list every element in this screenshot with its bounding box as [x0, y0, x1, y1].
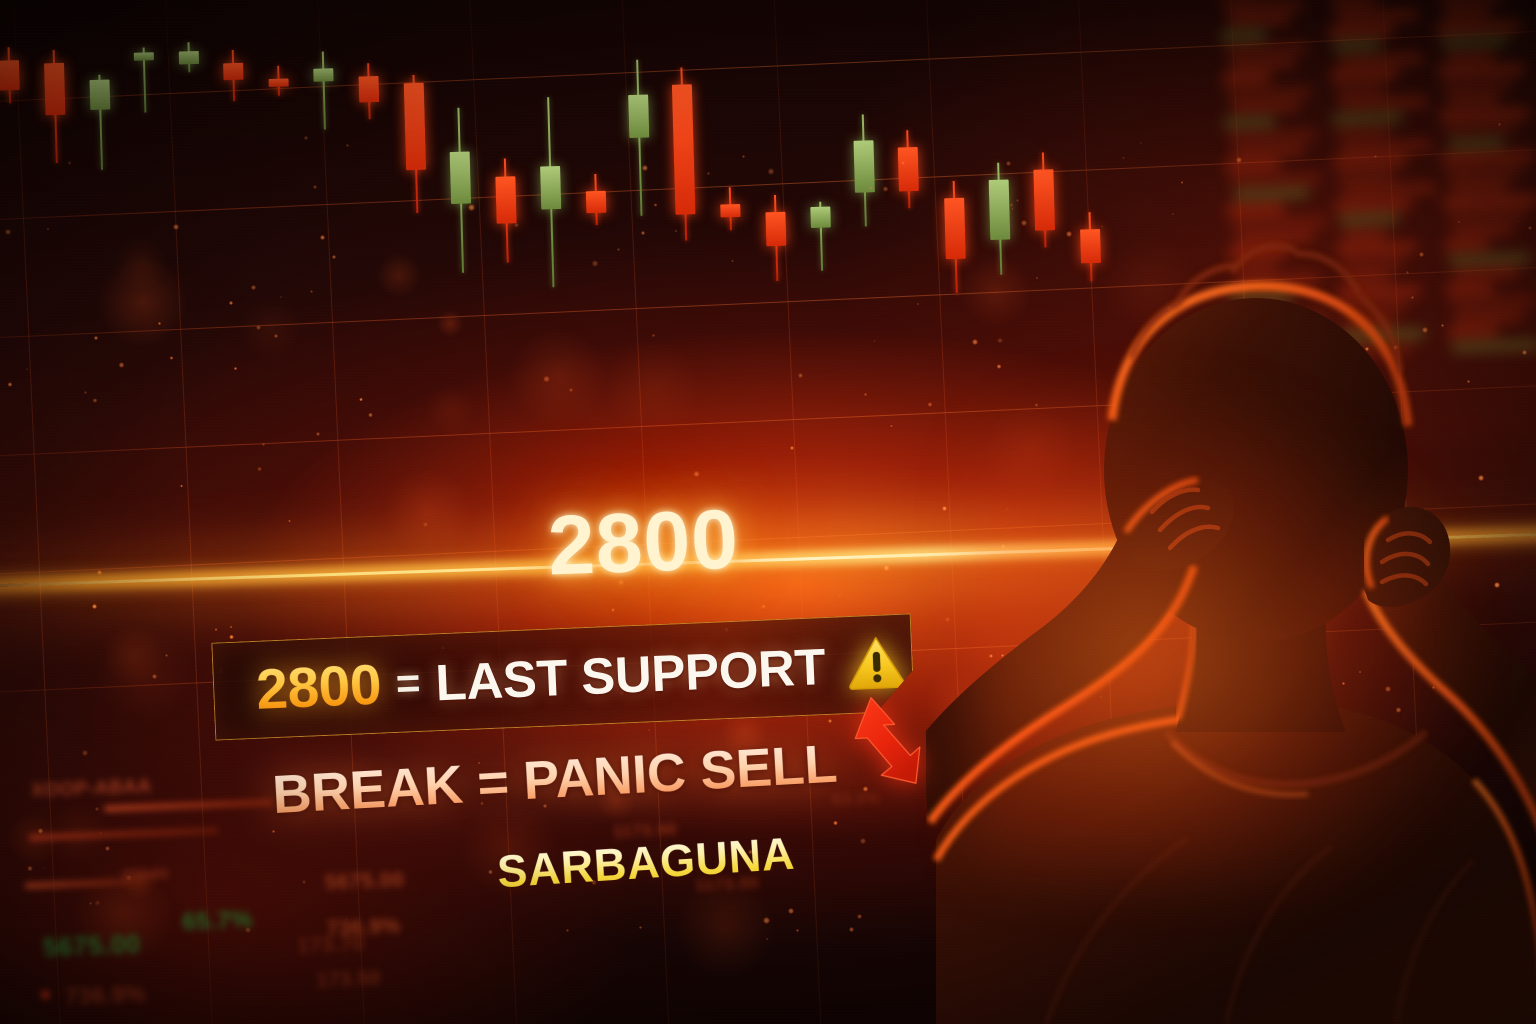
- ember-particle: [592, 260, 598, 266]
- panel-left-label: XOOP-ABAA: [31, 776, 152, 803]
- ticker-row: [1447, 94, 1499, 105]
- ember-particle: [304, 136, 308, 140]
- bokeh-glow: [425, 385, 475, 435]
- thumbnail-canvas: XOOP-ABAA Credit 5675.00 65.7% 173.70 73…: [0, 0, 1536, 1024]
- ember-particle: [707, 172, 710, 175]
- panel-price: 5675.00: [43, 929, 142, 964]
- bokeh-glow: [94, 624, 195, 725]
- ember-particle: [468, 204, 474, 210]
- bokeh-glow: [436, 310, 464, 338]
- ember-particle: [8, 382, 12, 386]
- candlestick: [88, 13, 121, 483]
- candle-body: [90, 79, 111, 110]
- ticker-row: [1336, 10, 1417, 22]
- banner-level: 2800: [255, 656, 382, 718]
- ember-particle: [514, 223, 518, 227]
- ember-particle: [215, 628, 218, 631]
- zigzag-down-arrow-icon: [849, 693, 924, 794]
- ember-particle: [346, 144, 349, 147]
- panel-credit-label: Credit: [122, 865, 169, 884]
- candle-body: [672, 84, 696, 214]
- warning-triangle-icon: [845, 633, 907, 694]
- panel-bar: [29, 827, 219, 840]
- support-level-headline: 2800: [547, 497, 741, 588]
- ember-particle: [901, 161, 905, 165]
- ticker-row: [1221, 30, 1266, 41]
- candle-body: [540, 166, 561, 210]
- ticker-row: [1232, 101, 1300, 112]
- candle-body: [450, 151, 471, 203]
- ember-particle: [642, 165, 647, 170]
- candle-body: [720, 204, 740, 218]
- candlestick: [43, 14, 76, 484]
- ember-particle: [742, 155, 745, 158]
- ember-particle: [262, 443, 265, 446]
- ember-particle: [68, 161, 72, 165]
- candle-body: [496, 176, 517, 224]
- panel-price: 736.9%: [64, 980, 146, 1010]
- banner-label: LAST SUPPORT: [434, 641, 826, 708]
- rim-light-glow: [966, 370, 1486, 890]
- ticker-row: [1226, 43, 1308, 55]
- candle-body: [898, 147, 919, 191]
- panel-bar: [104, 799, 274, 812]
- ember-particle: [761, 604, 766, 609]
- candle-body: [853, 140, 874, 192]
- candle-body: [358, 76, 379, 102]
- panel-price: 5675.00: [324, 868, 404, 895]
- candle-body: [766, 212, 787, 247]
- candle-body: [313, 68, 333, 82]
- candle-body: [269, 78, 289, 87]
- panel-change: 65.7%: [182, 906, 254, 937]
- ticker-row: [1229, 14, 1291, 25]
- candle-body: [0, 60, 20, 91]
- ember-particle: [313, 185, 317, 189]
- bokeh-glow: [508, 327, 608, 427]
- candlestick: [715, 0, 748, 465]
- candle-body: [628, 94, 649, 138]
- candle-body: [810, 206, 831, 228]
- candle-wick: [322, 51, 326, 129]
- ticker-row: [1340, 97, 1427, 109]
- banner-equals: =: [395, 662, 421, 705]
- bokeh-glow: [604, 340, 702, 438]
- ember-particle: [693, 471, 699, 477]
- ember-particle: [890, 425, 892, 427]
- ticker-row: [1224, 0, 1303, 11]
- bokeh-glow: [240, 298, 302, 360]
- candlestick: [804, 0, 837, 463]
- candlestick: [759, 0, 792, 464]
- ember-particle: [320, 235, 325, 240]
- candle-body: [44, 63, 65, 115]
- ticker-row: [1332, 0, 1376, 7]
- ticker-row: [1446, 51, 1495, 62]
- ember-particle: [611, 608, 615, 612]
- ticker-row: [1227, 86, 1312, 98]
- ticker-row: [1438, 64, 1524, 76]
- ember-particle: [119, 362, 124, 367]
- panel-dot: [41, 990, 50, 999]
- candle-body: [403, 83, 425, 170]
- candlestick: [267, 8, 300, 478]
- ember-particle: [173, 224, 179, 230]
- candle-body: [134, 52, 154, 61]
- ember-particle: [731, 260, 734, 263]
- ticker-row: [1444, 7, 1490, 18]
- ember-particle: [768, 168, 774, 174]
- ticker-row: [1437, 21, 1520, 33]
- panel-change: 736.9%: [326, 915, 401, 942]
- ember-particle: [93, 398, 97, 402]
- trader-silhouette: [926, 120, 1536, 1024]
- ember-particle: [798, 373, 803, 378]
- ember-particle: [170, 356, 174, 360]
- candlestick: [356, 5, 389, 475]
- ticker-row: [1440, 0, 1503, 4]
- ember-particle: [234, 367, 237, 370]
- ember-particle: [675, 230, 677, 232]
- candlestick: [222, 9, 255, 479]
- ticker-row: [1329, 25, 1393, 36]
- ticker-row: [1443, 79, 1512, 90]
- candlestick: [894, 0, 927, 460]
- ticker-row: [1230, 58, 1295, 69]
- ticker-row: [1338, 53, 1422, 65]
- candle-body: [224, 62, 244, 80]
- ticker-row: [1333, 40, 1380, 51]
- ember-particle: [229, 301, 233, 305]
- candle-body: [178, 51, 198, 65]
- candlestick: [177, 10, 210, 480]
- ember-particle: [368, 413, 373, 418]
- bokeh-glow: [376, 252, 422, 298]
- candlestick: [0, 15, 31, 485]
- panel-price: 173.50: [316, 967, 381, 992]
- ticker-row: [1331, 69, 1398, 80]
- ember-particle: [5, 229, 11, 235]
- ember-particle: [288, 520, 291, 523]
- ember-particle: [883, 186, 889, 192]
- ticker-row: [1335, 84, 1385, 95]
- ticker-row: [1441, 36, 1507, 47]
- ticker-row: [1440, 108, 1529, 120]
- ember-particle: [652, 334, 655, 337]
- candle-body: [586, 191, 607, 213]
- ember-particle: [251, 285, 255, 289]
- candlestick: [312, 6, 345, 476]
- ticker-row: [1223, 73, 1271, 84]
